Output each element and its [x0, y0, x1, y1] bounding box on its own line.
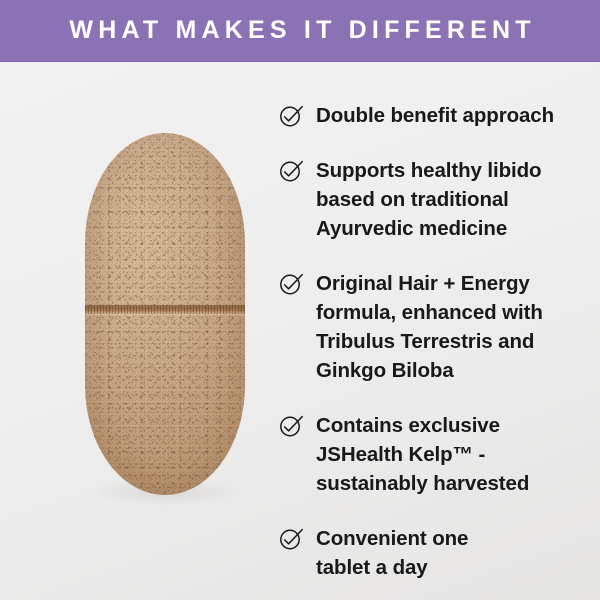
benefit-text-line: Ayurvedic medicine — [316, 214, 541, 243]
list-item: Contains exclusiveJSHealth Kelp™ -sustai… — [278, 411, 590, 498]
tablet-body — [85, 133, 245, 495]
benefit-text-line: sustainably harvested — [316, 469, 529, 498]
list-item: Convenient onetablet a day — [278, 524, 590, 582]
tablet-score-line — [85, 305, 245, 314]
benefit-text-line: Contains exclusive — [316, 411, 529, 440]
check-circle-icon — [278, 412, 305, 439]
benefit-text: Double benefit approach — [316, 101, 554, 130]
benefits-list: Double benefit approachSupports healthy … — [278, 101, 590, 582]
benefit-text-line: Convenient one — [316, 524, 468, 553]
benefit-text: Supports healthy libidobased on traditio… — [316, 156, 541, 243]
section-header-banner: WHAT MAKES IT DIFFERENT — [0, 0, 600, 62]
check-circle-icon — [278, 157, 305, 184]
list-item: Double benefit approach — [278, 101, 590, 130]
check-circle-icon — [278, 270, 305, 297]
content-area: Double benefit approachSupports healthy … — [0, 63, 600, 600]
benefit-text: Contains exclusiveJSHealth Kelp™ -sustai… — [316, 411, 529, 498]
benefit-text-line: Original Hair + Energy — [316, 269, 543, 298]
benefit-text-line: Supports healthy libido — [316, 156, 541, 185]
benefit-text-line: tablet a day — [316, 553, 468, 582]
check-circle-icon — [278, 525, 305, 552]
benefit-text-line: formula, enhanced with — [316, 298, 543, 327]
benefit-text-line: based on traditional — [316, 185, 541, 214]
benefit-text: Convenient onetablet a day — [316, 524, 468, 582]
benefit-text: Original Hair + Energyformula, enhanced … — [316, 269, 543, 385]
product-benefits-panel: WHAT MAKES IT DIFFERENT Double benefit a… — [0, 0, 600, 600]
list-item: Original Hair + Energyformula, enhanced … — [278, 269, 590, 385]
benefit-text-line: Ginkgo Biloba — [316, 356, 543, 385]
benefit-text-line: Double benefit approach — [316, 101, 554, 130]
benefit-text-line: JSHealth Kelp™ - — [316, 440, 529, 469]
benefit-text-line: Tribulus Terrestris and — [316, 327, 543, 356]
list-item: Supports healthy libidobased on traditio… — [278, 156, 590, 243]
page-title: WHAT MAKES IT DIFFERENT — [64, 18, 536, 43]
check-circle-icon — [278, 102, 305, 129]
product-image — [85, 133, 245, 495]
